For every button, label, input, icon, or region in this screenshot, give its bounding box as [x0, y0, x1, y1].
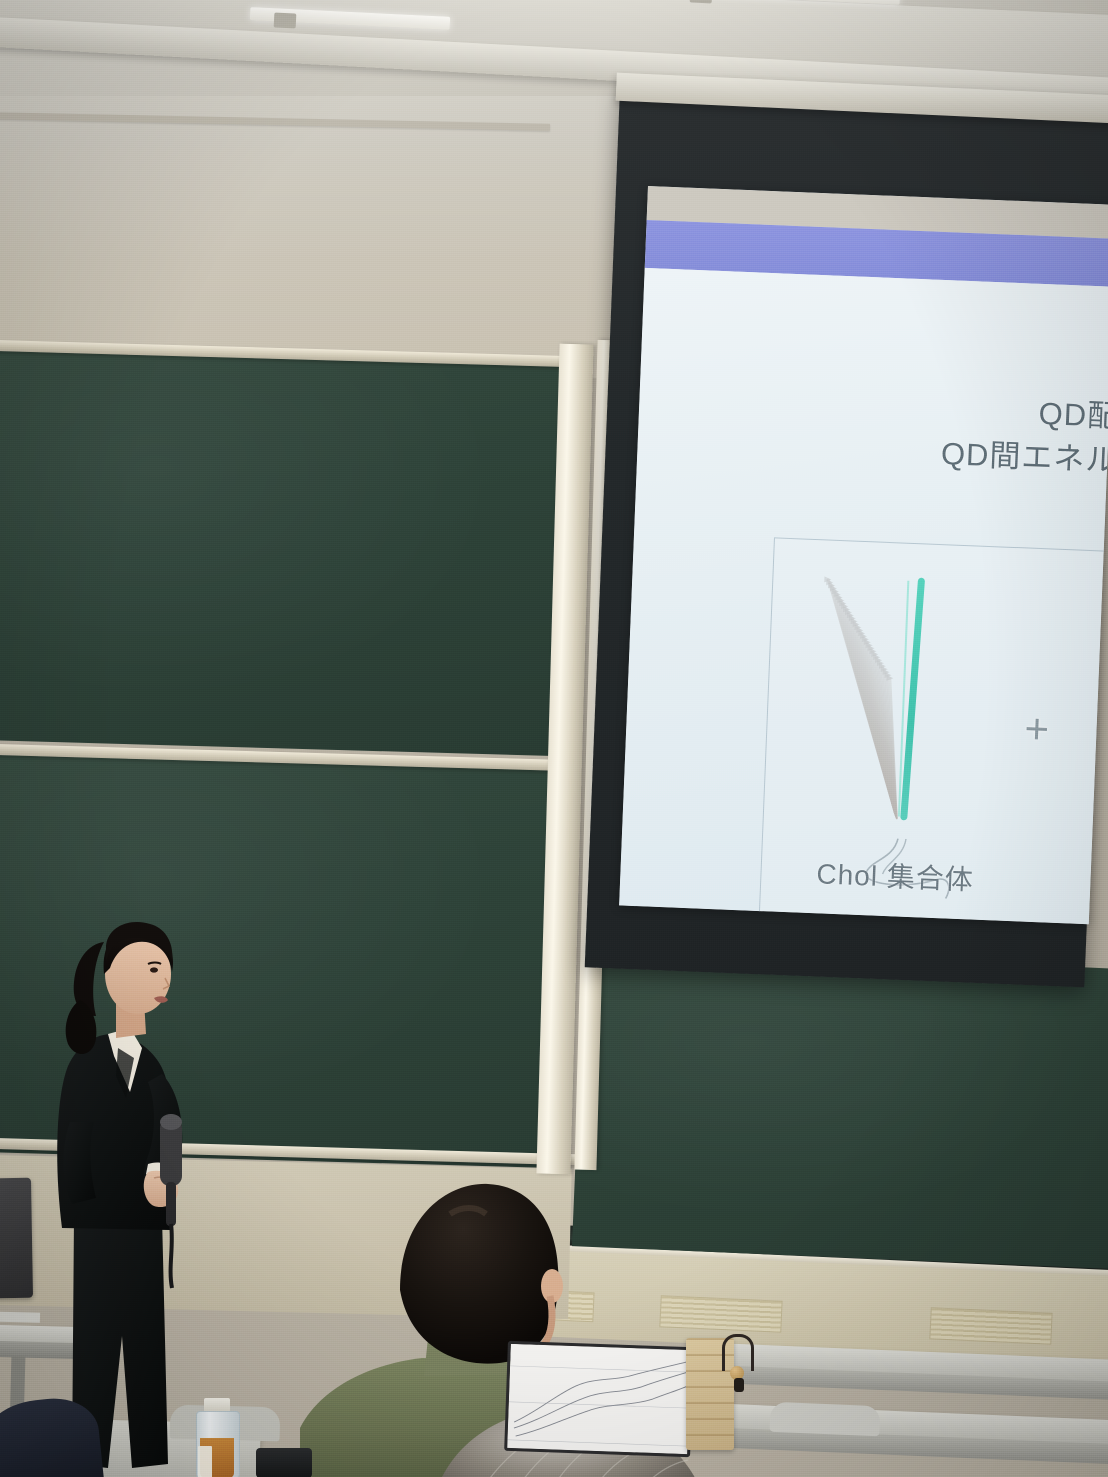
figure-caption-chol-aggregate: Chol 集合体: [816, 852, 975, 898]
laptop-chart: [507, 1344, 691, 1454]
pouch-charm: [734, 1378, 744, 1392]
lecture-hall-photo: QD配 QD間エネル: [0, 0, 1108, 1477]
cone-svg: [801, 563, 1012, 861]
tablet-on-table: [0, 1178, 33, 1299]
presenter-svg: [50, 916, 230, 1476]
tea-bottle: [192, 1398, 242, 1477]
slide-title-line-1: QD配: [942, 388, 1108, 439]
slide-title-line-2: QD間エネル: [940, 432, 1108, 483]
woven-pencil-pouch: [686, 1330, 746, 1450]
presenter: [50, 916, 230, 1476]
cone-left-strands: [815, 576, 907, 818]
microphone-handle: [166, 1182, 176, 1226]
dark-container: [256, 1448, 312, 1477]
chair-back-right: [769, 1402, 880, 1437]
microphone-cable: [171, 1224, 172, 1288]
presenter-eye: [150, 967, 158, 972]
bottle-label: [198, 1446, 212, 1477]
microphone-head: [160, 1114, 182, 1130]
papers-on-table: [0, 1311, 40, 1323]
bottle-cap: [204, 1398, 230, 1412]
presentation-slide: QD配 QD間エネル: [619, 186, 1108, 924]
chalkboard-upper-left: [0, 348, 565, 756]
wall-vent-far-right: [929, 1307, 1052, 1345]
cholesterol-aggregate-cone-figure: [801, 563, 1012, 861]
slide-body: QD配 QD間エネル: [619, 268, 1108, 924]
ceiling-light-notch-left: [274, 12, 297, 28]
audience-laptop: [504, 1341, 694, 1457]
slide-title: QD配 QD間エネル: [940, 388, 1108, 483]
plus-sign: +: [1024, 708, 1050, 751]
